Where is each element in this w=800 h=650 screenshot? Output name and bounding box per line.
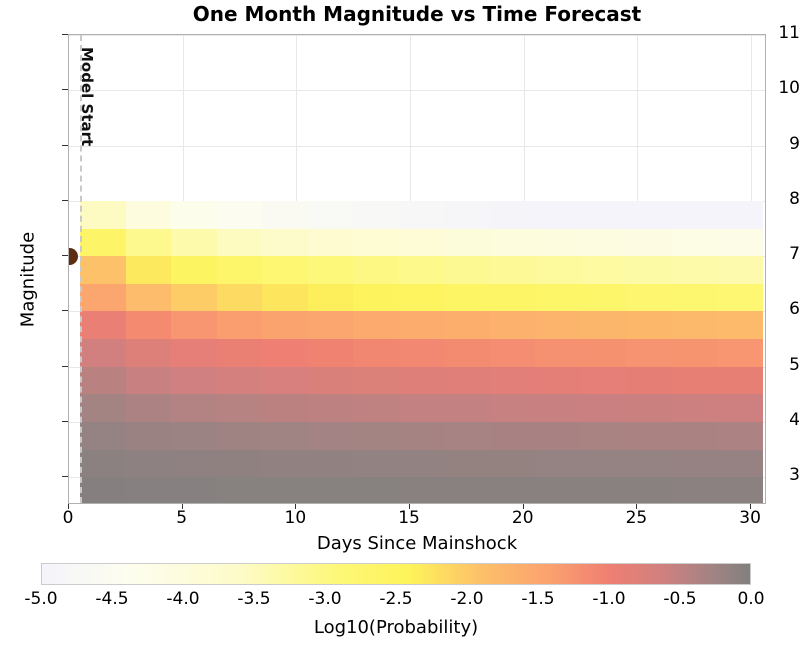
- heatmap-cell: [490, 311, 536, 339]
- heatmap-cell: [490, 256, 536, 284]
- colorbar: [41, 563, 751, 585]
- heatmap-cell: [126, 284, 172, 312]
- heatmap-cell: [535, 422, 581, 450]
- heatmap-cell: [171, 256, 217, 284]
- heatmap-cell: [80, 256, 126, 284]
- heatmap-cell: [171, 394, 217, 422]
- y-tick-mark: [62, 310, 68, 311]
- heatmap-cell: [171, 450, 217, 478]
- heatmap-cell: [626, 229, 672, 257]
- y-tick-label: 6: [744, 299, 800, 319]
- y-tick-mark: [62, 89, 68, 90]
- x-tick-label: 25: [606, 508, 666, 528]
- colorbar-tick-label: -0.5: [645, 589, 715, 609]
- heatmap-cell: [308, 477, 354, 504]
- heatmap-cell: [581, 450, 627, 478]
- heatmap-cell: [217, 339, 263, 367]
- colorbar-tick-label: -2.0: [432, 589, 502, 609]
- heatmap-cell: [126, 311, 172, 339]
- heatmap-cell: [126, 256, 172, 284]
- heatmap-cell: [444, 339, 490, 367]
- heatmap-cell: [399, 256, 445, 284]
- heatmap-cell: [80, 367, 126, 395]
- x-tick-mark: [295, 504, 296, 509]
- heatmap-cell: [672, 422, 718, 450]
- heatmap-cell: [490, 477, 536, 504]
- heatmap-cell: [626, 477, 672, 504]
- heatmap-cell: [399, 339, 445, 367]
- heatmap-cell: [672, 256, 718, 284]
- heatmap-cell: [353, 450, 399, 478]
- x-tick-mark: [636, 504, 637, 509]
- heatmap-cell: [444, 450, 490, 478]
- heatmap-cell: [353, 394, 399, 422]
- heatmap-cell: [626, 256, 672, 284]
- heatmap-cell: [308, 229, 354, 257]
- heatmap-cell: [672, 311, 718, 339]
- heatmap-cell: [217, 284, 263, 312]
- heatmap-cell: [353, 339, 399, 367]
- heatmap-cell: [217, 256, 263, 284]
- heatmap-cell: [80, 229, 126, 257]
- heatmap-cell: [217, 311, 263, 339]
- y-tick-label: 9: [744, 134, 800, 154]
- heatmap-cell: [171, 422, 217, 450]
- heatmap-cell: [672, 477, 718, 504]
- heatmap-cell: [171, 201, 217, 229]
- heatmap-cell: [262, 256, 308, 284]
- heatmap-cell: [308, 367, 354, 395]
- heatmap-cell: [126, 339, 172, 367]
- heatmap-cell: [399, 229, 445, 257]
- heatmap-cell: [308, 284, 354, 312]
- heatmap-cell: [581, 422, 627, 450]
- colorbar-tick-label: -3.5: [219, 589, 289, 609]
- heatmap-cell: [308, 394, 354, 422]
- y-tick-mark: [62, 145, 68, 146]
- colorbar-label: Log10(Probability): [41, 617, 751, 638]
- heatmap-cell: [217, 367, 263, 395]
- heatmap-cell: [262, 394, 308, 422]
- heatmap-cell: [262, 477, 308, 504]
- heatmap-cell: [490, 367, 536, 395]
- x-tick-label: 10: [265, 508, 325, 528]
- heatmap-cell: [399, 311, 445, 339]
- x-tick-label: 20: [493, 508, 553, 528]
- y-tick-mark: [62, 255, 68, 256]
- heatmap-cell: [581, 256, 627, 284]
- y-tick-label: 4: [744, 410, 800, 430]
- heatmap-cell: [262, 201, 308, 229]
- heatmap-cell: [353, 367, 399, 395]
- heatmap-cell: [171, 339, 217, 367]
- heatmap-cell: [308, 339, 354, 367]
- x-axis-label: Days Since Mainshock: [68, 533, 766, 554]
- heatmap-cell: [308, 256, 354, 284]
- colorbar-tick-label: 0.0: [716, 589, 786, 609]
- heatmap-cell: [217, 477, 263, 504]
- heatmap-cell: [535, 229, 581, 257]
- heatmap-cell: [80, 422, 126, 450]
- heatmap-cell: [672, 367, 718, 395]
- heatmap-cell: [399, 284, 445, 312]
- heatmap-cell: [353, 477, 399, 504]
- colorbar-tick-label: -2.5: [361, 589, 431, 609]
- heatmap-cell: [672, 394, 718, 422]
- heatmap-cell: [535, 367, 581, 395]
- heatmap-cell: [80, 339, 126, 367]
- x-tick-label: 5: [152, 508, 212, 528]
- y-tick-label: 7: [744, 244, 800, 264]
- heatmap-cell: [308, 311, 354, 339]
- heatmap-cell: [262, 450, 308, 478]
- heatmap-cell: [126, 229, 172, 257]
- heatmap-cell: [581, 339, 627, 367]
- heatmap-cell: [581, 367, 627, 395]
- heatmap-cell: [217, 229, 263, 257]
- heatmap-cell: [444, 422, 490, 450]
- heatmap-cell: [126, 394, 172, 422]
- x-tick-mark: [182, 504, 183, 509]
- x-tick-mark: [750, 504, 751, 509]
- y-tick-mark: [62, 200, 68, 201]
- heatmap-cell: [672, 339, 718, 367]
- colorbar-tick-label: -5.0: [6, 589, 76, 609]
- heatmap-cell: [581, 394, 627, 422]
- heatmap-cell: [353, 311, 399, 339]
- heatmap-cell: [535, 311, 581, 339]
- heatmap-cell: [126, 201, 172, 229]
- heatmap-cell: [444, 477, 490, 504]
- heatmap-cell: [126, 477, 172, 504]
- heatmap-cell: [626, 284, 672, 312]
- heatmap-cell: [626, 450, 672, 478]
- heatmap-cell: [126, 422, 172, 450]
- heatmap-cell: [626, 339, 672, 367]
- heatmap-cell: [262, 284, 308, 312]
- heatmap-cell: [171, 367, 217, 395]
- heatmap-cell: [126, 367, 172, 395]
- plot-area: Model Start: [68, 34, 766, 504]
- heatmap-cell: [626, 394, 672, 422]
- colorbar-tick-label: -3.0: [290, 589, 360, 609]
- heatmap-cell: [399, 422, 445, 450]
- heatmap-cell: [217, 201, 263, 229]
- y-tick-mark: [62, 421, 68, 422]
- heatmap-cell: [444, 256, 490, 284]
- heatmap-cell: [171, 284, 217, 312]
- heatmap-cell: [399, 394, 445, 422]
- heatmap-cells: [69, 35, 765, 503]
- x-tick-mark: [409, 504, 410, 509]
- heatmap-cell: [490, 201, 536, 229]
- y-axis-label: Magnitude: [18, 160, 39, 400]
- heatmap-cell: [217, 422, 263, 450]
- heatmap-cell: [80, 311, 126, 339]
- heatmap-cell: [626, 201, 672, 229]
- heatmap-cell: [581, 284, 627, 312]
- heatmap-cell: [262, 229, 308, 257]
- colorbar-tick-label: -4.5: [77, 589, 147, 609]
- heatmap-cell: [444, 311, 490, 339]
- y-tick-label: 11: [744, 23, 800, 43]
- heatmap-cell: [171, 477, 217, 504]
- heatmap-cell: [535, 477, 581, 504]
- heatmap-cell: [217, 450, 263, 478]
- colorbar-gradient: [41, 563, 751, 585]
- y-tick-label: 5: [744, 355, 800, 375]
- heatmap-cell: [490, 450, 536, 478]
- heatmap-cell: [399, 201, 445, 229]
- heatmap-cell: [444, 229, 490, 257]
- heatmap-cell: [171, 311, 217, 339]
- heatmap-cell: [444, 367, 490, 395]
- heatmap-cell: [490, 422, 536, 450]
- heatmap-cell: [672, 284, 718, 312]
- y-tick-mark: [62, 366, 68, 367]
- x-tick-label: 30: [720, 508, 780, 528]
- colorbar-tick-label: -1.0: [574, 589, 644, 609]
- heatmap-cell: [535, 450, 581, 478]
- model-start-label: Model Start: [78, 47, 96, 146]
- heatmap-cell: [626, 367, 672, 395]
- y-tick-mark: [62, 34, 68, 35]
- heatmap-cell: [80, 450, 126, 478]
- y-tick-label: 10: [744, 78, 800, 98]
- heatmap-cell: [171, 229, 217, 257]
- forecast-chart-figure: One Month Magnitude vs Time Forecast Mod…: [0, 0, 800, 650]
- colorbar-tick-label: -4.0: [148, 589, 218, 609]
- heatmap-cell: [535, 201, 581, 229]
- heatmap-cell: [262, 339, 308, 367]
- heatmap-cell: [80, 284, 126, 312]
- heatmap-cell: [126, 450, 172, 478]
- heatmap-cell: [353, 422, 399, 450]
- heatmap-cell: [581, 229, 627, 257]
- heatmap-cell: [80, 477, 126, 504]
- heatmap-cell: [353, 201, 399, 229]
- heatmap-cell: [581, 311, 627, 339]
- x-tick-mark: [68, 504, 69, 509]
- heatmap-cell: [353, 284, 399, 312]
- heatmap-cell: [535, 394, 581, 422]
- heatmap-cell: [80, 201, 126, 229]
- heatmap-cell: [444, 284, 490, 312]
- heatmap-cell: [80, 394, 126, 422]
- heatmap-cell: [399, 477, 445, 504]
- heatmap-cell: [535, 339, 581, 367]
- heatmap-cell: [308, 201, 354, 229]
- heatmap-cell: [535, 284, 581, 312]
- heatmap-cell: [399, 367, 445, 395]
- heatmap-cell: [672, 450, 718, 478]
- heatmap-cell: [262, 311, 308, 339]
- heatmap-cell: [444, 201, 490, 229]
- heatmap-cell: [626, 311, 672, 339]
- y-tick-mark: [62, 476, 68, 477]
- y-tick-label: 8: [744, 189, 800, 209]
- heatmap-cell: [262, 422, 308, 450]
- x-tick-label: 0: [38, 508, 98, 528]
- heatmap-cell: [308, 422, 354, 450]
- heatmap-cell: [581, 201, 627, 229]
- x-tick-label: 15: [379, 508, 439, 528]
- heatmap-cell: [581, 477, 627, 504]
- heatmap-cell: [490, 284, 536, 312]
- heatmap-cell: [672, 229, 718, 257]
- x-tick-mark: [523, 504, 524, 509]
- heatmap-cell: [444, 394, 490, 422]
- heatmap-cell: [399, 450, 445, 478]
- heatmap-cell: [490, 229, 536, 257]
- chart-title: One Month Magnitude vs Time Forecast: [68, 2, 766, 26]
- heatmap-cell: [535, 256, 581, 284]
- heatmap-cell: [217, 394, 263, 422]
- heatmap-cell: [353, 229, 399, 257]
- y-tick-label: 3: [744, 465, 800, 485]
- heatmap-cell: [353, 256, 399, 284]
- heatmap-cell: [490, 339, 536, 367]
- heatmap-cell: [308, 450, 354, 478]
- heatmap-cell: [490, 394, 536, 422]
- heatmap-cell: [672, 201, 718, 229]
- heatmap-cell: [262, 367, 308, 395]
- heatmap-cell: [626, 422, 672, 450]
- colorbar-tick-label: -1.5: [503, 589, 573, 609]
